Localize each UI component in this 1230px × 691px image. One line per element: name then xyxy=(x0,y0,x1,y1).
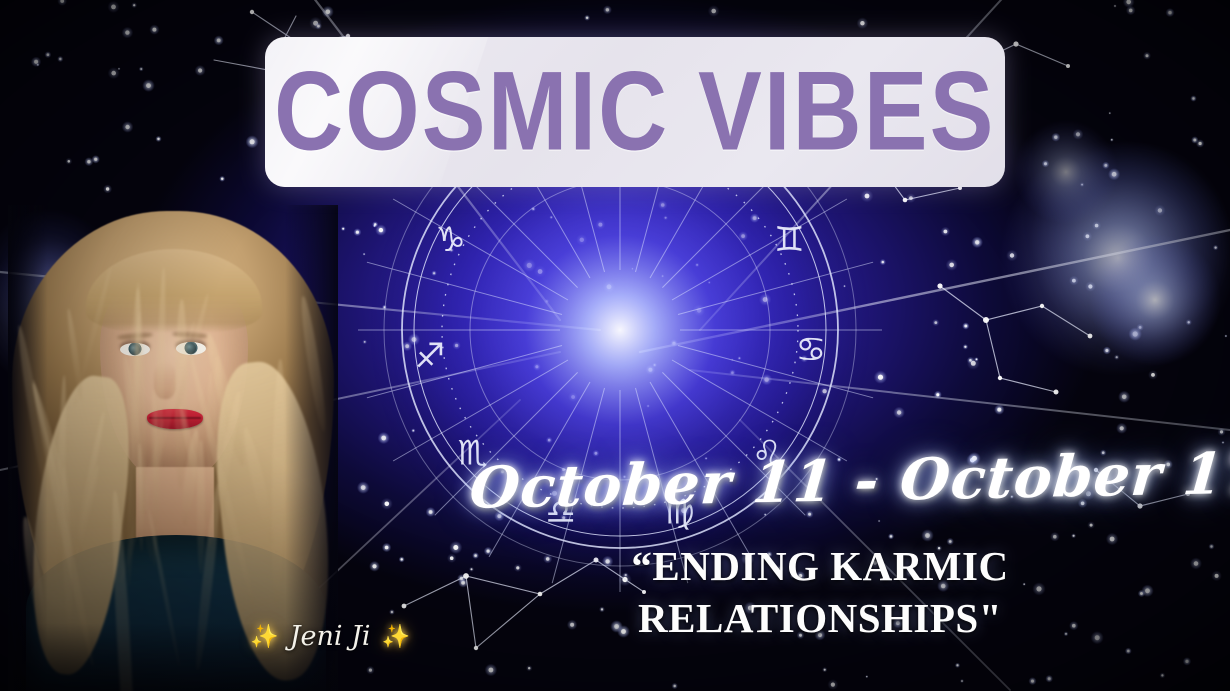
sparkle-icon-left: ✨ xyxy=(250,623,279,650)
zodiac-symbol-sagittarius: ♐ xyxy=(415,337,445,377)
zodiac-symbol-capricorn: ♑ xyxy=(435,220,465,260)
sparkle-icon-right: ✨ xyxy=(382,623,411,650)
page-title: COSMIC VIBES xyxy=(274,48,995,176)
thumbnail-canvas: ♈♉♊♋♌♍♎♏♐♑♒♓ COSMIC VIBES October 11 - O… xyxy=(0,0,1230,691)
host-name: Jeni Ji xyxy=(290,621,371,652)
subtitle-line-1: “ENDING KARMIC xyxy=(470,540,1170,592)
title-banner: COSMIC VIBES xyxy=(265,37,1005,187)
zodiac-symbol-gemini: ♊ xyxy=(774,220,804,260)
subtitle-line-2: RELATIONSHIPS" xyxy=(470,592,1170,644)
episode-subtitle: “ENDING KARMIC RELATIONSHIPS" xyxy=(470,540,1170,645)
zodiac-symbol-cancer: ♋ xyxy=(796,330,826,370)
host-signature: ✨ Jeni Ji ✨ xyxy=(250,621,410,652)
date-range-text: October 11 - October 17 xyxy=(467,441,1173,522)
host-portrait xyxy=(8,205,338,691)
